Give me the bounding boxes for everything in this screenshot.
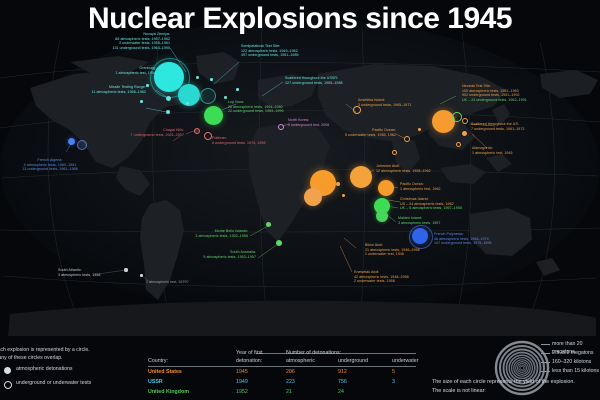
blast-semipalatinsk-ring [200, 88, 216, 104]
legend-intro-line-1: Each explosion is represented by a circl… [0, 347, 90, 355]
blast-south-australia [276, 240, 282, 246]
blast-pacific-small-2 [342, 194, 345, 197]
blast-amchitka [353, 106, 361, 114]
blast-ussr-scatter-6 [146, 84, 149, 87]
annotation-christmas-island: Christmas Island: US – 24 atmospheric te… [400, 197, 462, 211]
table-cell-underwater: 5 [392, 369, 395, 377]
yield-tick-1 [541, 344, 550, 345]
blast-ussr-scatter-3 [224, 96, 227, 99]
blast-french-algeria-filled [68, 138, 75, 145]
legend-swatch-atmospheric [4, 367, 11, 374]
annotation-johnston-atoll: Johnston Atoll: 12 atmospheric tests, 19… [376, 164, 431, 173]
table-header-country: Country: [148, 358, 168, 366]
table-cell-atmospheric: 206 [286, 369, 295, 377]
annotation-south-atlantic: South Atlantic: 3 atmospheric tests, 195… [58, 268, 100, 277]
annotation-nevada-test-site: Nevada Test Site: 100 atmospheric tests,… [462, 84, 527, 102]
yield-tick-2 [541, 353, 550, 354]
blast-pacific-underwater [404, 136, 410, 142]
table-cell-country: USSR [148, 379, 163, 387]
annotation-french-polynesia: French Polynesia: 46 atmospheric tests, … [434, 232, 492, 246]
annotation-monte-bello: Monte Bello Islands: 3 atmospheric tests… [166, 229, 248, 238]
table-header-atmospheric: atmospheric [286, 358, 315, 366]
page-title: Nuclear Explosions since 1945 [0, 2, 600, 36]
annotation-alamogordo: Alamogordo: 1 atmospheric test, 1945 [472, 146, 513, 155]
annotation-scattered-ussr: Scattered throughout the USSR: 127 under… [285, 76, 343, 85]
legend-key-atmospheric: atmospheric detonations [16, 366, 73, 374]
annotation-north-korea: North Korea: 1 underground test, 2006 [288, 118, 329, 127]
table-header-year-2: detonation: [236, 358, 262, 366]
table-cell-underground: 24 [338, 389, 344, 397]
blast-malden-island [376, 210, 388, 222]
table-header-detonations: Number of detonations: [286, 350, 341, 358]
table-cell-country: United States [148, 369, 182, 377]
scale-note-line-1: The size of each circle represents the y… [432, 378, 575, 386]
table-cell-year: 1949 [236, 379, 248, 387]
table-cell-atmospheric: 223 [286, 379, 295, 387]
yield-label-3: 160–320 kilotons [552, 358, 591, 366]
table-cell-year: 1945 [236, 369, 248, 377]
annotation-chagai-hills: Chagai Hills: 7 underground tests, 2001–… [88, 128, 184, 137]
blast-enewetak-atoll [304, 188, 322, 206]
blast-pacific-dot-1 [418, 128, 421, 131]
legend: Each explosion is represented by a circl… [0, 334, 600, 400]
table-header-year-1: Year of first [236, 350, 263, 358]
blast-ussr-scatter-2 [210, 78, 213, 81]
blast-nevada-uk-ring [452, 112, 462, 122]
annotation-unknown-test: 1 atmospheric test, 1979? [146, 280, 189, 285]
annotation-bikini-atoll: Bikini Atoll: 21 atmospheric tests, 1946… [365, 243, 420, 257]
blast-alamogordo [462, 131, 467, 136]
blast-pokhran [204, 132, 212, 140]
yield-label-4: less than 15 kilotons [552, 367, 599, 375]
table-cell-atmospheric: 21 [286, 389, 292, 397]
blast-chagai-hills [194, 128, 200, 134]
blast-lop-nora [204, 106, 223, 125]
blast-orenburg [166, 96, 171, 101]
annotation-south-australia: South Australia: 9 atmospheric tests, 19… [176, 250, 256, 259]
yield-label-2: 2.5–5.1 megatons [552, 349, 594, 357]
annotation-semipalatinsk: Semipalatinsk Test Site: 122 atmospheric… [241, 44, 299, 58]
annotation-orenburg: Orenburg: 1 atmospheric test, 1954 [40, 66, 156, 75]
blast-ussr-scatter-7 [140, 100, 143, 103]
blast-missile-range [166, 110, 170, 114]
blast-nevada [432, 110, 455, 133]
scale-note-line-2: The scale is not linear: [432, 387, 486, 395]
blast-unknown-1979 [140, 274, 143, 277]
blast-north-korea [278, 124, 284, 130]
blast-ussr-scatter-5 [236, 88, 239, 91]
annotation-missile-testing-range: Missile Testing Range: 11 atmospheric te… [26, 85, 146, 94]
blast-us-scatter-2 [456, 142, 461, 147]
table-cell-underwater: 3 [392, 379, 395, 387]
table-rule-top [148, 366, 416, 367]
blast-johnston-atoll [350, 166, 372, 188]
annotation-enewetak-atoll: Enewetak Atoll: 42 atmospheric tests, 19… [354, 270, 409, 284]
annotation-pacific-ocean-underwater: Pacific Ocean: 5 underwater tests, 1955,… [330, 128, 396, 137]
legend-intro-line-2: Many of these circles overlap. [0, 355, 63, 363]
blast-french-algeria-ring [77, 140, 87, 150]
blast-pacific-dot-2 [392, 150, 397, 155]
blast-semipalatinsk [178, 84, 200, 106]
blast-south-atlantic [124, 268, 128, 272]
yield-scale-icon [494, 340, 550, 396]
annotation-scattered-us: Scattered throughout the US: 7 undergrou… [471, 122, 524, 131]
annotation-amchitka-island: Amchitka Island: 3 underground tests, 19… [358, 98, 411, 107]
annotation-pokhran: Pokhran: 6 underground tests, 1974, 1998 [212, 136, 266, 145]
table-header-underground: underground [338, 358, 368, 366]
legend-key-underground: underground or underwater tests [16, 380, 91, 388]
legend-swatch-underground [4, 381, 12, 389]
annotation-pacific-ocean-atmospheric: Pacific Ocean: 1 atmospheric test, 1962 [400, 182, 441, 191]
table-cell-underground: 756 [338, 379, 347, 387]
table-header-underwater: underwater [392, 358, 419, 366]
annotation-malden-island: Malden Island: 3 atmospheric tests, 1957 [398, 216, 440, 225]
blast-pacific-small-1 [336, 182, 340, 186]
yield-tick-4 [541, 371, 550, 372]
table-cell-underground: 912 [338, 369, 347, 377]
blast-us-scatter-1 [462, 118, 468, 124]
table-cell-country: United Kingdom [148, 389, 189, 397]
annotation-lop-nora: Lop Nora: 26 atmospheric tests, 1964–198… [228, 100, 284, 114]
blast-ussr-scatter-1 [196, 76, 199, 79]
blast-monte-bello [266, 222, 271, 227]
blast-pacific-atmospheric [378, 180, 394, 196]
annotation-french-algeria: French Algeria: 4 atmospheric tests, 196… [0, 158, 100, 172]
infographic-root: Nuclear Explosions since 1945 [0, 0, 600, 400]
yield-tick-3 [541, 362, 550, 363]
table-cell-year: 1952 [236, 389, 248, 397]
blast-ussr-scatter-4 [186, 102, 189, 105]
